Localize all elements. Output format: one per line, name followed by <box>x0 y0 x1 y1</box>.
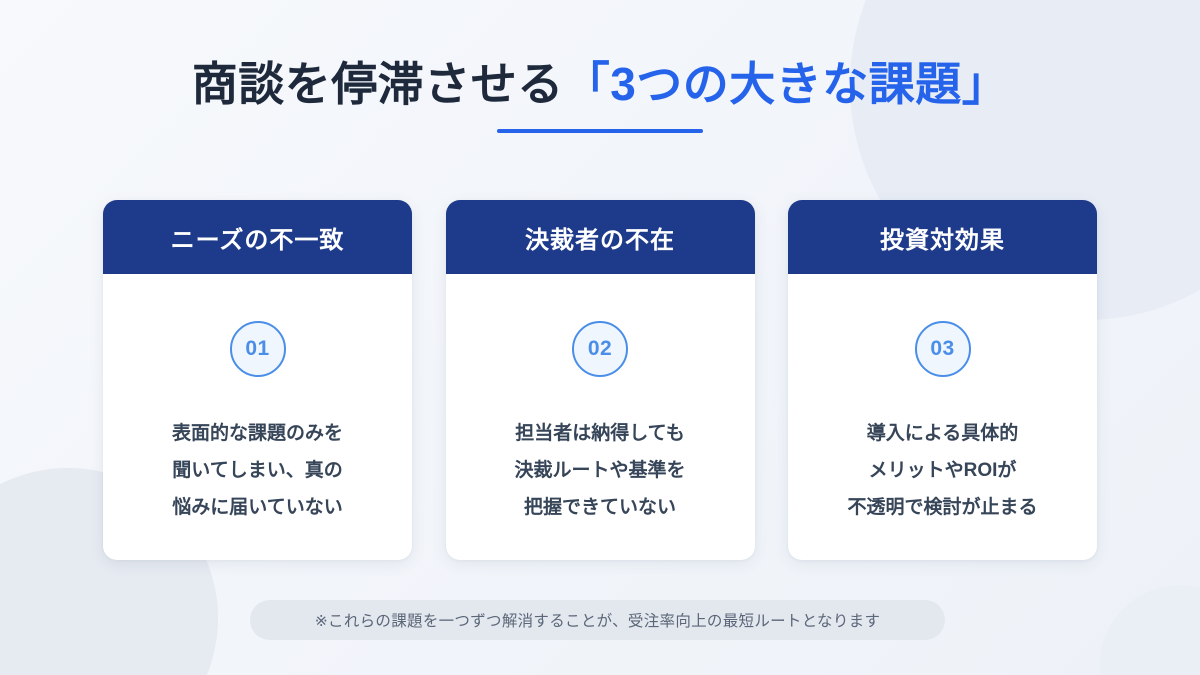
card-header-title: ニーズの不一致 <box>103 200 412 274</box>
card-item: 投資対効果 03 導入による具体的 メリットやROIが 不透明で検討が止まる <box>788 200 1097 560</box>
title-underline <box>497 129 703 133</box>
card-number-badge: 03 <box>915 321 971 377</box>
title-block: 商談を停滞させる「3つの大きな課題」 <box>0 56 1200 133</box>
card-description: 表面的な課題のみを 聞いてしまい、真の 悩みに届いていない <box>172 415 343 526</box>
decorative-circle-bottom-right <box>1100 585 1200 675</box>
card-body: 03 導入による具体的 メリットやROIが 不透明で検討が止まる <box>788 274 1097 560</box>
card-number-badge: 02 <box>572 321 628 377</box>
card-header-title: 投資対効果 <box>788 200 1097 274</box>
title-accent-text: 「3つの大きな課題」 <box>564 58 1009 110</box>
card-body: 01 表面的な課題のみを 聞いてしまい、真の 悩みに届いていない <box>103 274 412 560</box>
card-header-title: 決裁者の不在 <box>446 200 755 274</box>
card-number-badge: 01 <box>230 321 286 377</box>
page-title: 商談を停滞させる「3つの大きな課題」 <box>0 56 1200 112</box>
card-item: ニーズの不一致 01 表面的な課題のみを 聞いてしまい、真の 悩みに届いていない <box>103 200 412 560</box>
card-list: ニーズの不一致 01 表面的な課題のみを 聞いてしまい、真の 悩みに届いていない… <box>103 200 1097 560</box>
title-main-text: 商談を停滞させる <box>192 58 564 110</box>
slide-canvas: 商談を停滞させる「3つの大きな課題」 ニーズの不一致 01 表面的な課題のみを … <box>0 0 1200 675</box>
card-description: 担当者は納得しても 決裁ルートや基準を 把握できていない <box>514 415 685 526</box>
card-description: 導入による具体的 メリットやROIが 不透明で検討が止まる <box>847 415 1037 526</box>
card-item: 決裁者の不在 02 担当者は納得しても 決裁ルートや基準を 把握できていない <box>446 200 755 560</box>
footer-note: ※これらの課題を一つずつ解消することが、受注率向上の最短ルートとなります <box>250 600 945 640</box>
card-body: 02 担当者は納得しても 決裁ルートや基準を 把握できていない <box>446 274 755 560</box>
